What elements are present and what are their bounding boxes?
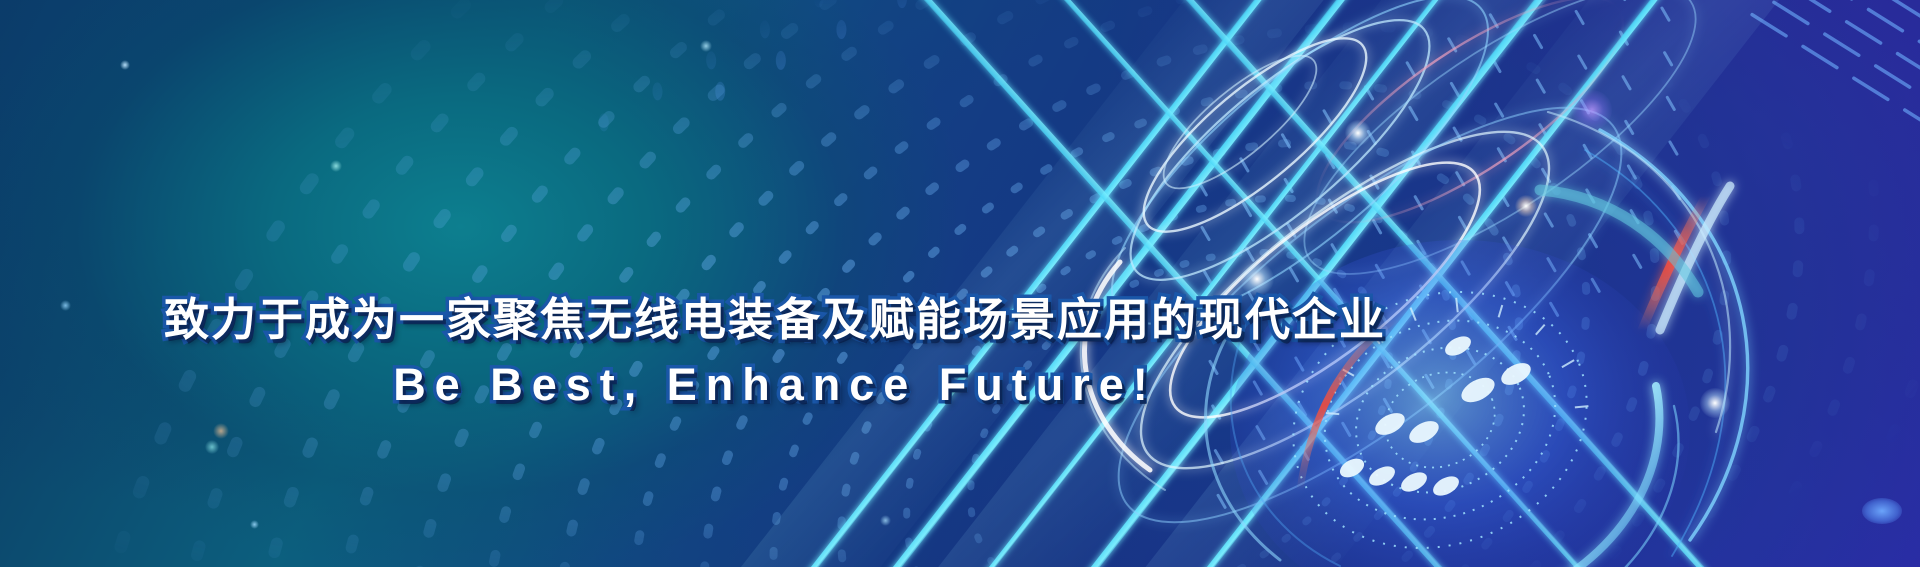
glow-spot (1515, 195, 1537, 217)
glow-spot (250, 520, 259, 529)
banner-headline-chinese: 致力于成为一家聚焦无线电装备及赋能场景应用的现代企业 (0, 296, 1550, 345)
glow-spot (1345, 120, 1371, 146)
glow-bokeh-layer (0, 0, 1920, 567)
glow-spot (1240, 262, 1274, 296)
glow-spot (205, 440, 219, 454)
glow-spot (120, 60, 130, 70)
glow-spot (1862, 498, 1902, 524)
glow-spot (700, 40, 712, 52)
glow-spot (213, 423, 229, 439)
glow-spot (880, 515, 891, 526)
banner-copy: 致力于成为一家聚焦无线电装备及赋能场景应用的现代企业 Be Best, Enha… (0, 296, 1920, 409)
glow-spot (1572, 90, 1612, 130)
glow-spot (330, 160, 342, 172)
banner-tagline-english: Be Best, Enhance Future! (0, 361, 1550, 410)
hero-banner: 致力于成为一家聚焦无线电装备及赋能场景应用的现代企业 Be Best, Enha… (0, 0, 1920, 567)
